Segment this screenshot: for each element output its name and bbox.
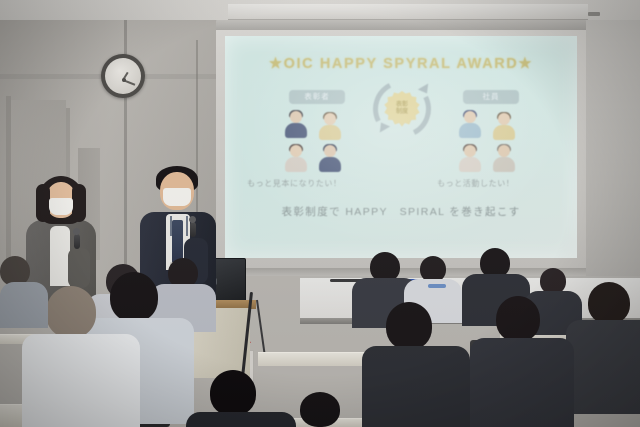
person-head — [498, 113, 510, 125]
woman-arm — [68, 248, 90, 288]
attendee-head — [300, 392, 340, 427]
person-body — [459, 123, 481, 138]
slide-person-right-2 — [491, 112, 517, 142]
screen-bottom-shadow — [216, 268, 586, 276]
person-body — [459, 157, 481, 172]
attendee-body — [22, 334, 140, 427]
slide-person-left-4 — [317, 144, 343, 174]
person-body — [285, 123, 307, 138]
attendee-head — [588, 282, 630, 324]
attendee-body — [470, 338, 574, 427]
person-body — [493, 125, 515, 140]
man-face-mask — [163, 188, 191, 206]
person-head — [464, 111, 476, 123]
attendee-body — [0, 282, 48, 328]
attendee-head — [496, 296, 540, 342]
microphone-head-man — [189, 216, 196, 223]
slide-person-right-3 — [457, 144, 483, 174]
microphone-woman — [74, 234, 80, 249]
person-head — [498, 145, 510, 157]
person-body — [493, 157, 515, 172]
person-head — [290, 111, 302, 123]
slide-cycle-graphic: 表彰制度 — [373, 80, 431, 138]
clock-center-pin — [122, 78, 126, 82]
person-body — [285, 157, 307, 172]
slide-person-left-3 — [283, 144, 309, 174]
person-head — [290, 145, 302, 157]
person-body — [319, 125, 341, 140]
slide-content: ★OIC HAPPY SPYRAL AWARD★ 表彰者 社員 — [225, 36, 577, 258]
person-head — [324, 145, 336, 157]
ceiling-fixture-knob — [588, 12, 600, 16]
attendee-head — [210, 370, 256, 416]
presentation-room-photo: ★OIC HAPPY SPYRAL AWARD★ 表彰者 社員 — [0, 0, 640, 427]
desk-mid-center — [258, 352, 374, 366]
clock-face — [105, 58, 141, 94]
attendee-body — [186, 412, 296, 427]
attendee-lanyard — [428, 284, 446, 288]
person-body — [319, 157, 341, 172]
slide-left-group-label: 表彰者 — [289, 90, 345, 104]
slide-person-right-4 — [491, 144, 517, 174]
power-cable-secondary — [256, 300, 266, 360]
slide-person-right-1 — [457, 110, 483, 140]
microphone-head-woman — [73, 228, 80, 235]
person-head — [464, 145, 476, 157]
person-head — [324, 113, 336, 125]
slide-tagline-right: もっと活動したい！ — [437, 178, 514, 189]
woman-inner-top — [50, 226, 70, 286]
slide-person-left-2 — [317, 112, 343, 142]
attendee-head — [386, 302, 432, 350]
woman-hair-side-left — [36, 184, 50, 222]
wall-clock — [101, 54, 145, 98]
man-lanyard-strap-right — [186, 216, 188, 236]
slide-person-left-1 — [283, 110, 309, 140]
ceiling-light-strip — [228, 4, 588, 20]
man-lanyard-strap-left — [170, 216, 172, 236]
slide-tagline-left: もっと見本になりたい！ — [247, 178, 342, 189]
attendee-head — [46, 286, 96, 338]
woman-hair-side-right — [72, 184, 86, 222]
attendee-head — [110, 272, 158, 322]
right-wall — [578, 20, 640, 320]
microphone-man — [190, 222, 196, 237]
slide-footer-text: 表彰制度で HAPPY SPIRAL を巻き起こす — [225, 204, 577, 219]
slide-right-group-label: 社員 — [463, 90, 519, 104]
attendee-body — [566, 320, 640, 414]
door-frame-left — [6, 96, 11, 266]
badge-text: 表彰制度 — [396, 102, 408, 116]
slide-title: ★OIC HAPPY SPYRAL AWARD★ — [225, 56, 577, 72]
woman-face-mask — [49, 198, 73, 215]
attendee-body — [362, 346, 470, 427]
